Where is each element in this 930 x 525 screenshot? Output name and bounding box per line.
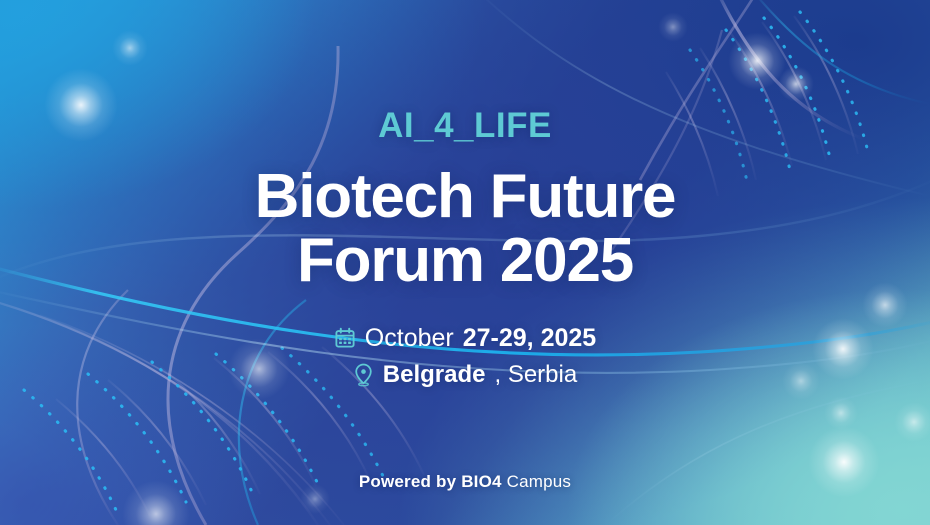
event-date-emphasis: 27-29, 2025 [463, 323, 596, 354]
page-title: Biotech Future Forum 2025 [255, 165, 676, 293]
powered-by-prefix: Powered by [359, 472, 461, 491]
map-pin-icon [353, 363, 374, 387]
event-meta: October 27-29, 2025 Belgrade, Serbia [334, 323, 596, 390]
banner-content: AI_4_LIFE Biotech Future Forum 2025 [0, 0, 930, 525]
event-city: Belgrade [383, 360, 486, 390]
title-line-2: Forum 2025 [255, 229, 676, 293]
event-date-row: October 27-29, 2025 [334, 323, 596, 354]
event-series-label: AI_4_LIFE [378, 108, 552, 143]
title-line-1: Biotech Future [255, 165, 676, 229]
event-banner: AI_4_LIFE Biotech Future Forum 2025 [0, 0, 930, 525]
powered-by-footer: Powered by BIO4 Campus [0, 472, 930, 492]
event-location-row: Belgrade, Serbia [353, 360, 577, 390]
event-country: , Serbia [494, 360, 577, 390]
calendar-icon [334, 327, 356, 349]
event-date-prefix: October [365, 323, 454, 354]
powered-by-brand: BIO4 [461, 472, 501, 491]
powered-by-suffix: Campus [502, 472, 571, 491]
